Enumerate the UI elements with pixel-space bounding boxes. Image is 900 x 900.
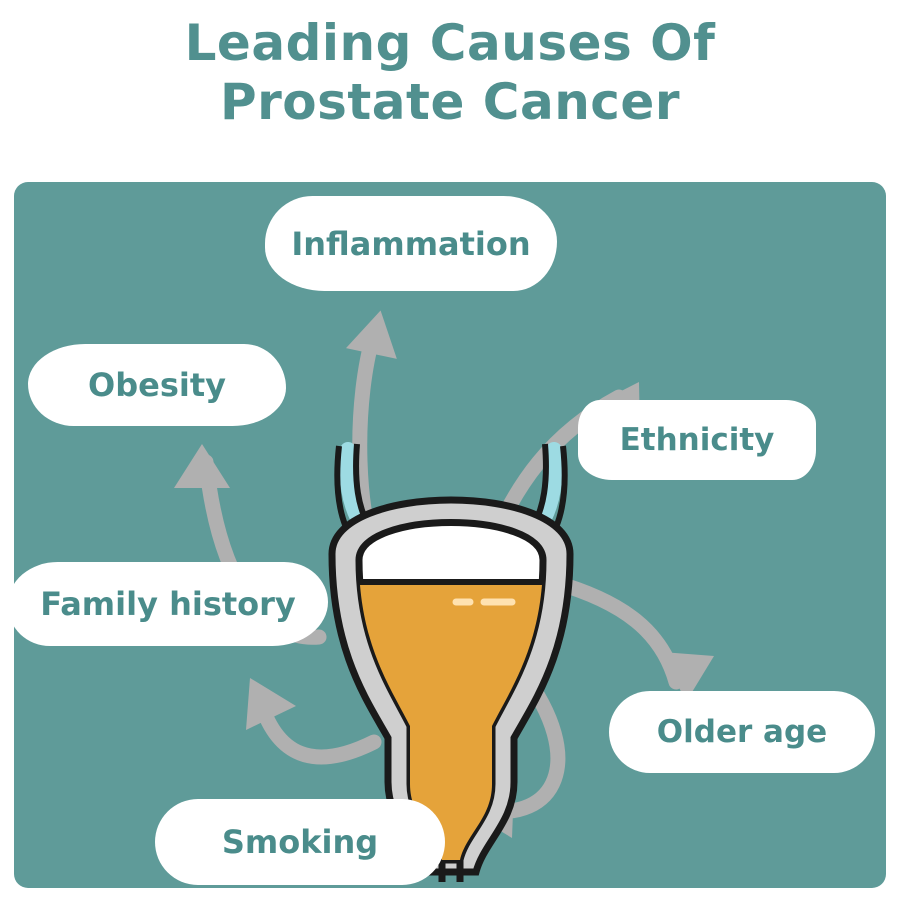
cause-label-smoking[interactable]: Smoking bbox=[155, 799, 445, 885]
cause-label-older-age[interactable]: Older age bbox=[609, 691, 875, 773]
cause-label-obesity[interactable]: Obesity bbox=[28, 344, 286, 426]
diagram-panel: Inflammation Obesity Ethnicity Family hi… bbox=[14, 182, 886, 888]
infographic-page: Leading Causes Of Prostate Cancer bbox=[0, 0, 900, 900]
page-title-line-2: Prostate Cancer bbox=[0, 73, 900, 132]
cause-label-family-history[interactable]: Family history bbox=[14, 562, 328, 646]
page-title: Leading Causes Of Prostate Cancer bbox=[0, 14, 900, 132]
cause-label-inflammation[interactable]: Inflammation bbox=[265, 196, 557, 291]
page-title-line-1: Leading Causes Of bbox=[0, 14, 900, 73]
cause-label-ethnicity[interactable]: Ethnicity bbox=[578, 400, 816, 480]
